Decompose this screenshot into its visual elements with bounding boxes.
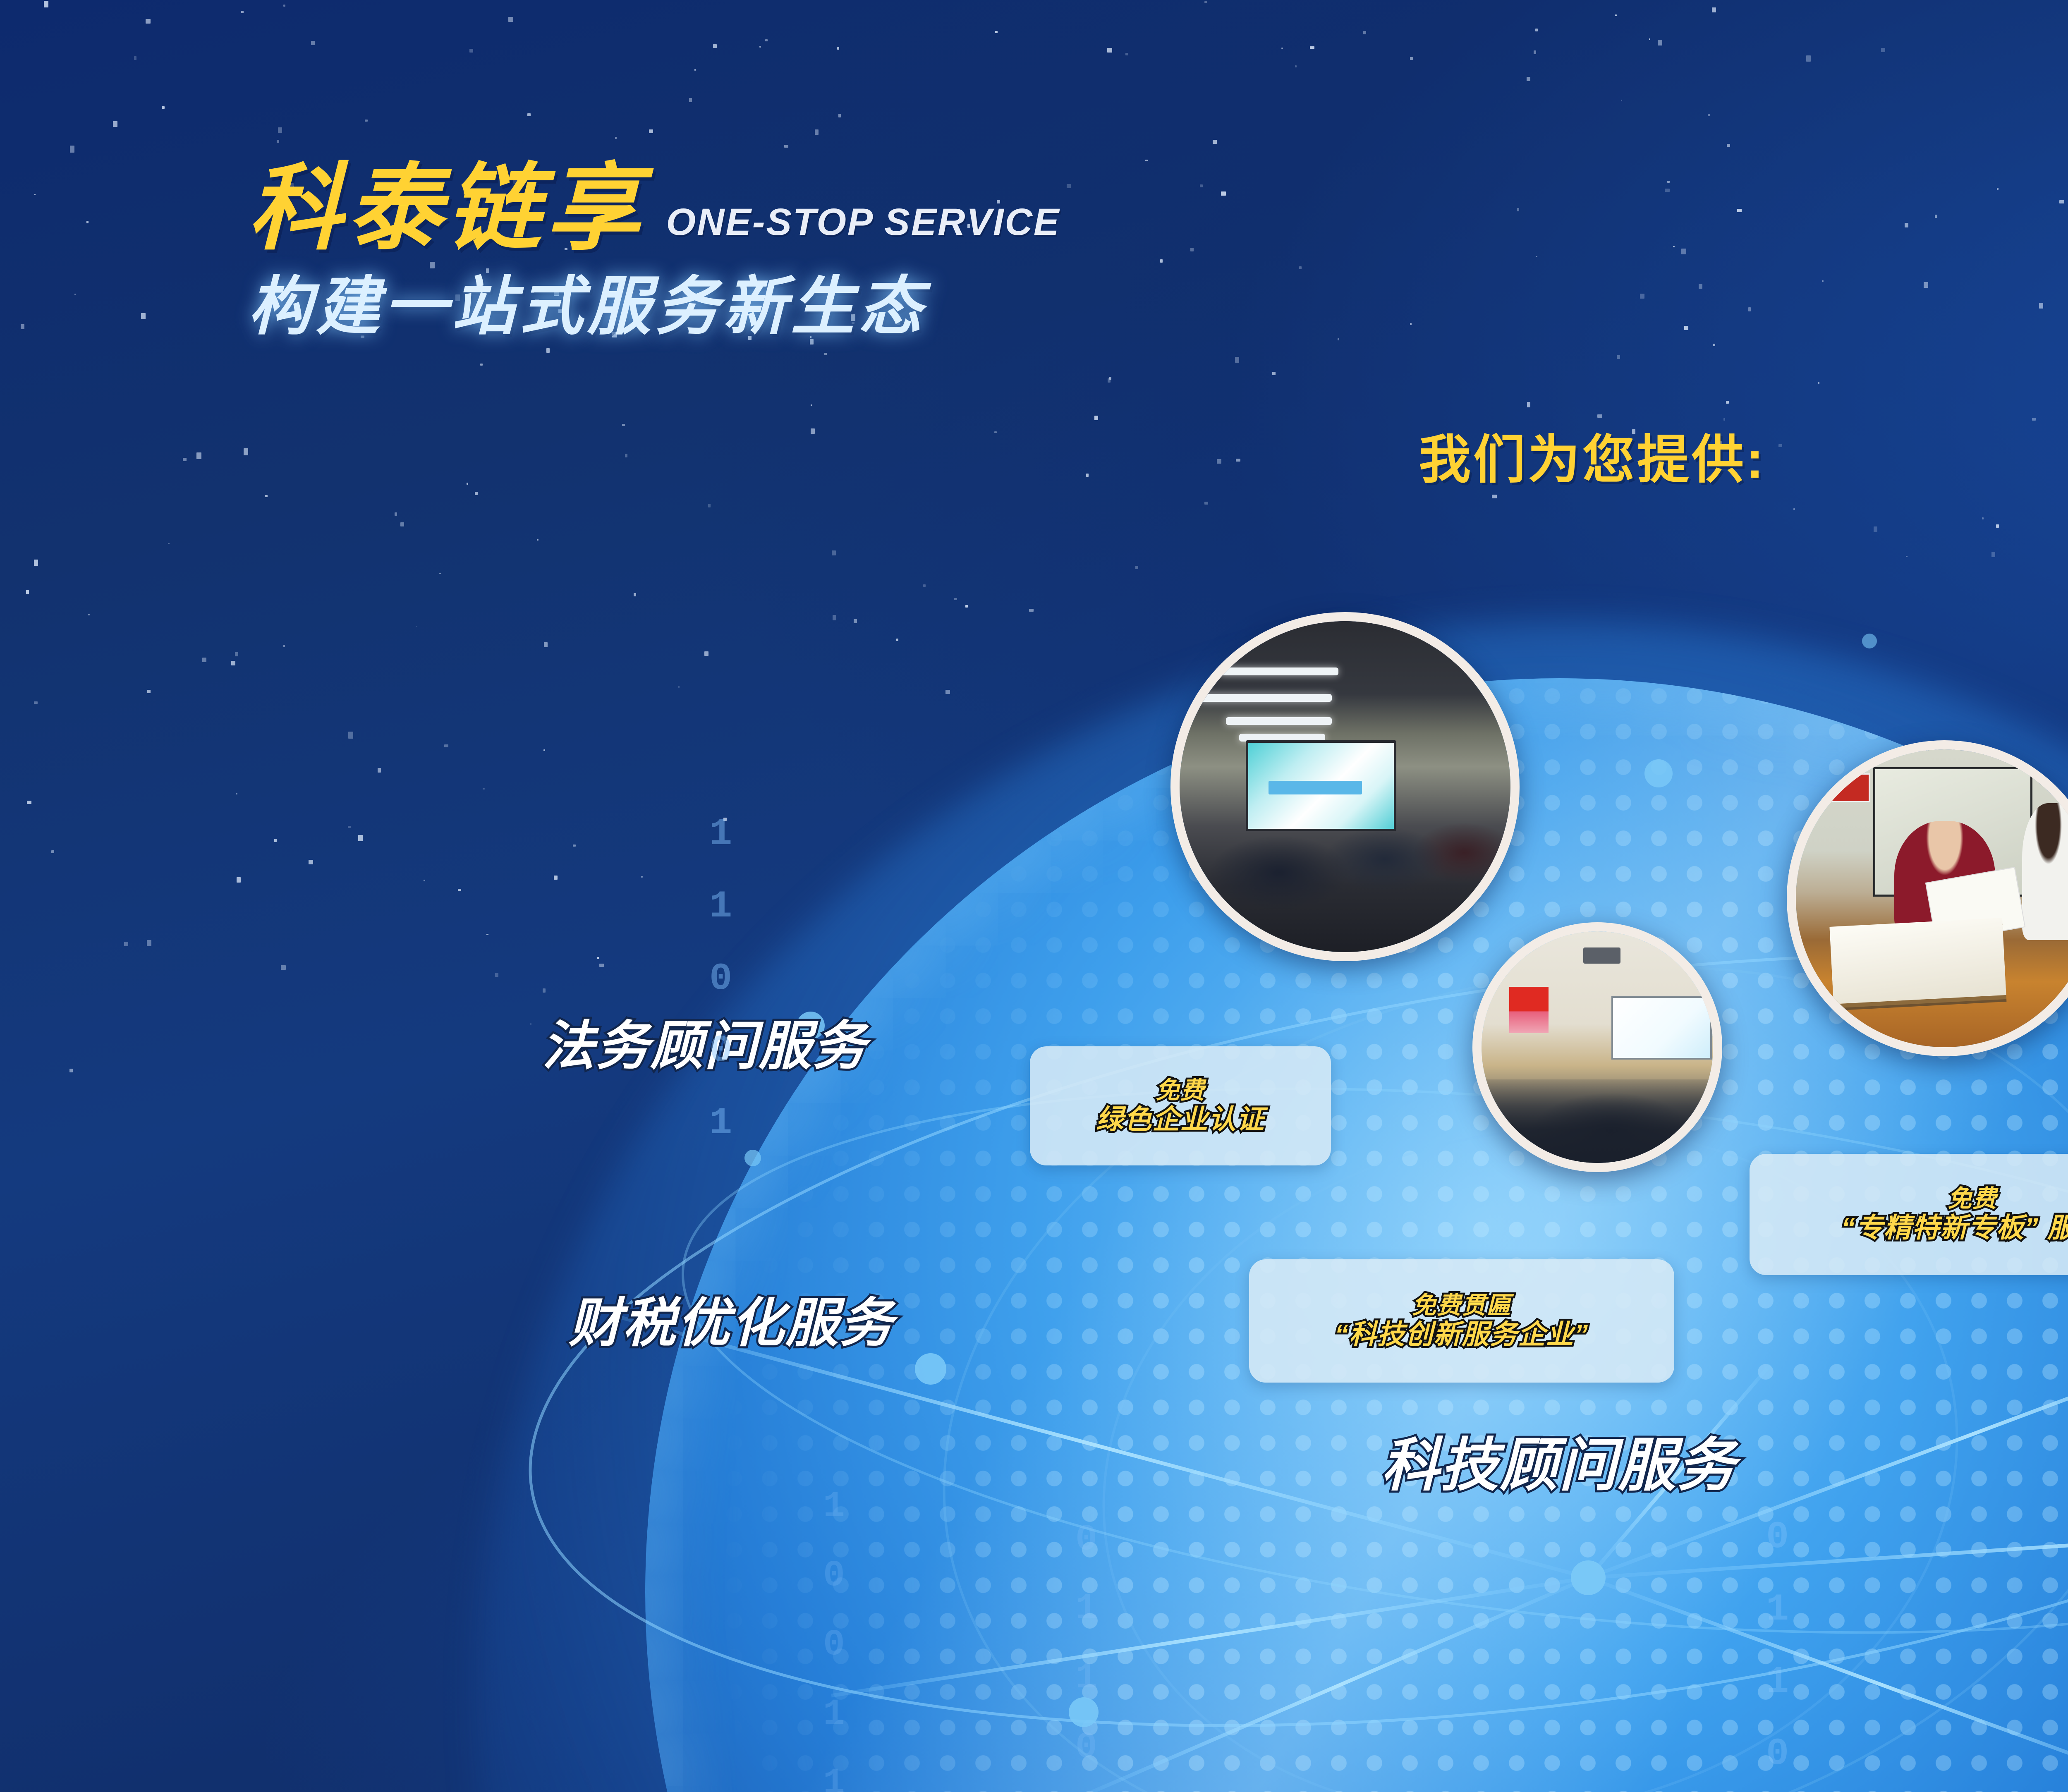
star	[811, 404, 812, 406]
star	[395, 512, 397, 516]
star	[69, 1069, 72, 1072]
star	[1536, 256, 1537, 257]
photo-classroom-training-image	[1482, 931, 1713, 1163]
star	[281, 965, 285, 970]
star	[1748, 307, 1751, 311]
star	[599, 964, 604, 967]
star	[954, 598, 957, 600]
star	[896, 639, 898, 641]
star	[469, 49, 473, 53]
star	[309, 860, 313, 864]
star	[348, 732, 353, 739]
star	[689, 98, 692, 102]
star	[1658, 40, 1662, 45]
star	[1295, 65, 1297, 68]
star	[416, 626, 417, 627]
star	[183, 458, 187, 461]
service-label-tech[interactable]: 科技顾问服务	[1381, 1419, 1736, 1502]
badge-tech-innovation-line2: “科技创新服务企业”	[1335, 1319, 1589, 1350]
star	[554, 876, 558, 880]
star	[708, 504, 711, 507]
star	[348, 826, 351, 828]
star	[713, 44, 717, 48]
binary-digit: 1	[1075, 1782, 1097, 1792]
star	[277, 140, 280, 143]
star	[202, 658, 206, 662]
binary-digit: 0	[1075, 1505, 1097, 1574]
star	[1492, 495, 1496, 498]
star	[1621, 100, 1622, 101]
star	[1818, 382, 1819, 384]
star	[1535, 29, 1538, 32]
star	[1410, 323, 1412, 325]
star	[495, 973, 498, 977]
star	[467, 483, 468, 485]
star	[1874, 526, 1877, 532]
star	[21, 324, 25, 329]
star	[444, 744, 448, 747]
star	[833, 615, 837, 620]
star	[231, 661, 235, 665]
star	[1935, 215, 1938, 218]
star	[543, 988, 546, 993]
binary-digit: 1	[823, 1749, 845, 1792]
star	[358, 835, 363, 842]
star	[1667, 181, 1669, 183]
badge-tech-innovation[interactable]: 免费贯匾 “科技创新服务企业”	[1249, 1259, 1674, 1383]
star	[1778, 444, 1782, 447]
star	[694, 69, 696, 71]
star	[1310, 46, 1314, 49]
star	[994, 431, 996, 433]
binary-digit: 1	[1075, 1644, 1097, 1713]
star	[544, 642, 548, 647]
star	[1996, 524, 1999, 528]
star	[1982, 517, 1984, 519]
star	[573, 845, 576, 847]
star	[815, 129, 819, 135]
star	[1410, 57, 1413, 60]
star	[70, 146, 75, 152]
star	[2059, 200, 2064, 203]
star	[475, 492, 478, 495]
star	[759, 46, 761, 48]
star	[483, 788, 485, 790]
star	[1281, 48, 1283, 49]
star	[811, 428, 815, 433]
star	[765, 39, 768, 41]
star	[2039, 303, 2043, 309]
photo-seminar-hall	[1170, 612, 1520, 961]
star	[832, 550, 836, 555]
binary-column-1: 11001	[709, 798, 732, 1160]
star	[1527, 77, 1530, 81]
binary-digit: 1	[709, 1087, 732, 1160]
binary-digit: 1	[709, 798, 732, 871]
star	[480, 364, 483, 366]
star	[1684, 326, 1688, 330]
star	[543, 749, 545, 751]
star	[34, 194, 36, 195]
star	[27, 801, 31, 804]
brand-subtitle-en: ONE-STOP SERVICE	[666, 201, 1060, 244]
star	[1793, 508, 1795, 510]
binary-digit: 1	[823, 1472, 845, 1541]
star	[1726, 401, 1729, 404]
star	[1517, 208, 1519, 211]
star	[88, 614, 90, 615]
binary-digit: 1	[1075, 1574, 1097, 1644]
binary-column-3: 10011	[823, 1472, 845, 1792]
star	[1338, 338, 1339, 340]
binary-column-4: 01101	[1075, 1505, 1097, 1792]
star	[1527, 402, 1531, 407]
star	[1125, 53, 1128, 55]
tagline: 构建一站式服务新生态	[248, 275, 1060, 338]
star	[923, 584, 926, 587]
star	[641, 876, 643, 878]
binary-column-5: 0110	[1766, 1501, 1789, 1790]
binary-digit: 0	[1766, 1501, 1789, 1574]
star	[2032, 418, 2035, 421]
star	[378, 768, 381, 773]
star	[508, 17, 513, 22]
star	[597, 957, 599, 959]
star	[838, 114, 841, 117]
star	[965, 605, 968, 607]
star	[1822, 280, 1824, 282]
star	[1924, 282, 1929, 288]
star	[1665, 189, 1669, 192]
star	[1699, 284, 1702, 288]
star	[1905, 223, 1908, 227]
binary-digit: 0	[1075, 1713, 1097, 1782]
star	[1708, 114, 1710, 116]
photo-classroom-training	[1472, 922, 1722, 1172]
star	[1649, 38, 1650, 40]
star	[147, 690, 150, 693]
star	[1272, 372, 1276, 375]
binary-digit: 0	[823, 1541, 845, 1610]
star	[1190, 248, 1194, 251]
badge-green-enterprise-line2: 绿色企业认证	[1096, 1104, 1265, 1135]
star	[1615, 14, 1616, 16]
star	[196, 452, 201, 459]
star	[995, 31, 997, 33]
star	[1640, 294, 1644, 299]
star	[1094, 416, 1098, 420]
star	[1213, 140, 1217, 144]
star	[1107, 48, 1112, 53]
star	[168, 543, 170, 545]
star	[1363, 31, 1367, 34]
star	[486, 934, 488, 935]
star	[458, 889, 461, 891]
star	[235, 652, 238, 656]
star	[424, 880, 425, 881]
star	[824, 353, 827, 355]
star	[1713, 344, 1715, 346]
star	[1534, 50, 1536, 54]
star	[124, 942, 128, 946]
promo-banner: 科泰链享 ONE-STOP SERVICE 构建一站式服务新生态 我们为您提供:	[0, 0, 2068, 1792]
star	[283, 645, 285, 647]
star	[546, 348, 550, 353]
headline-block: 科泰链享 ONE-STOP SERVICE 构建一站式服务新生态	[248, 161, 1060, 338]
binary-digit: 0	[709, 1015, 732, 1087]
star	[1145, 160, 1147, 161]
photo-office-consultation	[1787, 740, 2068, 1056]
star	[1235, 357, 1240, 363]
star	[278, 127, 282, 133]
star	[1997, 188, 1999, 190]
star	[1135, 566, 1138, 569]
star	[1991, 552, 1995, 557]
star	[625, 454, 628, 457]
star	[162, 106, 165, 109]
star	[1067, 184, 1071, 188]
star	[1204, 1, 1207, 3]
star	[241, 11, 244, 13]
star	[1108, 378, 1111, 383]
star	[439, 573, 440, 574]
star	[1217, 459, 1221, 464]
badge-specialized-new[interactable]: 免费 “专精特新专板” 服务	[1750, 1154, 2068, 1275]
brand-title: 科泰链享	[248, 161, 645, 256]
star	[113, 121, 117, 127]
star	[527, 113, 530, 116]
star	[236, 793, 237, 795]
star	[537, 539, 538, 541]
star	[1673, 246, 1674, 248]
star	[1881, 48, 1885, 52]
star	[615, 137, 616, 139]
photo-seminar-hall-image	[1180, 621, 1510, 952]
binary-digit: 0	[1766, 1718, 1789, 1790]
star	[74, 294, 76, 295]
star	[1236, 459, 1241, 462]
star	[141, 313, 146, 319]
badge-specialized-new-line2: “专精特新专板” 服务	[1841, 1213, 2068, 1243]
star	[649, 129, 653, 133]
star	[274, 839, 277, 842]
star	[265, 495, 268, 498]
service-label-legal[interactable]: 法务顾问服务	[542, 1003, 867, 1079]
star	[1712, 7, 1716, 12]
star	[784, 145, 788, 148]
badge-green-enterprise-line1: 免费	[1156, 1077, 1205, 1104]
badge-tech-innovation-line1: 免费贯匾	[1412, 1292, 1511, 1319]
star	[1299, 266, 1301, 269]
binary-digit: 1	[823, 1680, 845, 1749]
star	[1086, 474, 1089, 476]
star	[837, 47, 839, 50]
star	[51, 850, 55, 853]
provide-label: 我们为您提供:	[1419, 418, 1766, 493]
star	[1221, 191, 1225, 196]
star	[1727, 144, 1730, 147]
binary-digit: 1	[709, 871, 732, 943]
star	[622, 424, 625, 426]
star	[1681, 249, 1686, 254]
star	[1029, 609, 1034, 612]
binary-digit: 0	[709, 943, 732, 1015]
star	[1200, 184, 1203, 187]
star	[44, 1, 48, 7]
star	[1906, 556, 1908, 557]
star	[634, 593, 636, 596]
star	[147, 940, 151, 946]
star	[530, 1024, 531, 1024]
badge-green-enterprise[interactable]: 免费 绿色企业认证	[1030, 1046, 1331, 1165]
star	[1737, 209, 1742, 212]
star	[1160, 259, 1163, 263]
star	[1204, 502, 1208, 505]
binary-digit: 1	[1766, 1574, 1789, 1646]
star	[1597, 414, 1602, 418]
photo-office-consultation-image	[1796, 749, 2068, 1047]
service-label-tax[interactable]: 财税优化服务	[569, 1280, 894, 1357]
star	[365, 120, 367, 122]
star	[283, 5, 285, 7]
star	[244, 448, 248, 455]
star	[237, 877, 241, 883]
binary-digit: 0	[823, 1610, 845, 1680]
star	[400, 522, 404, 526]
star	[86, 221, 89, 223]
star	[34, 701, 38, 703]
star	[34, 560, 38, 566]
star	[1617, 355, 1620, 359]
binary-digit: 1	[1766, 1646, 1789, 1718]
star	[26, 590, 29, 594]
star	[134, 56, 136, 60]
star	[1109, 377, 1111, 380]
star	[1806, 55, 1811, 62]
star	[146, 19, 150, 24]
star	[704, 651, 708, 656]
star	[311, 41, 314, 45]
badge-specialized-new-line1: 免费	[1948, 1186, 1997, 1213]
star	[854, 619, 857, 623]
